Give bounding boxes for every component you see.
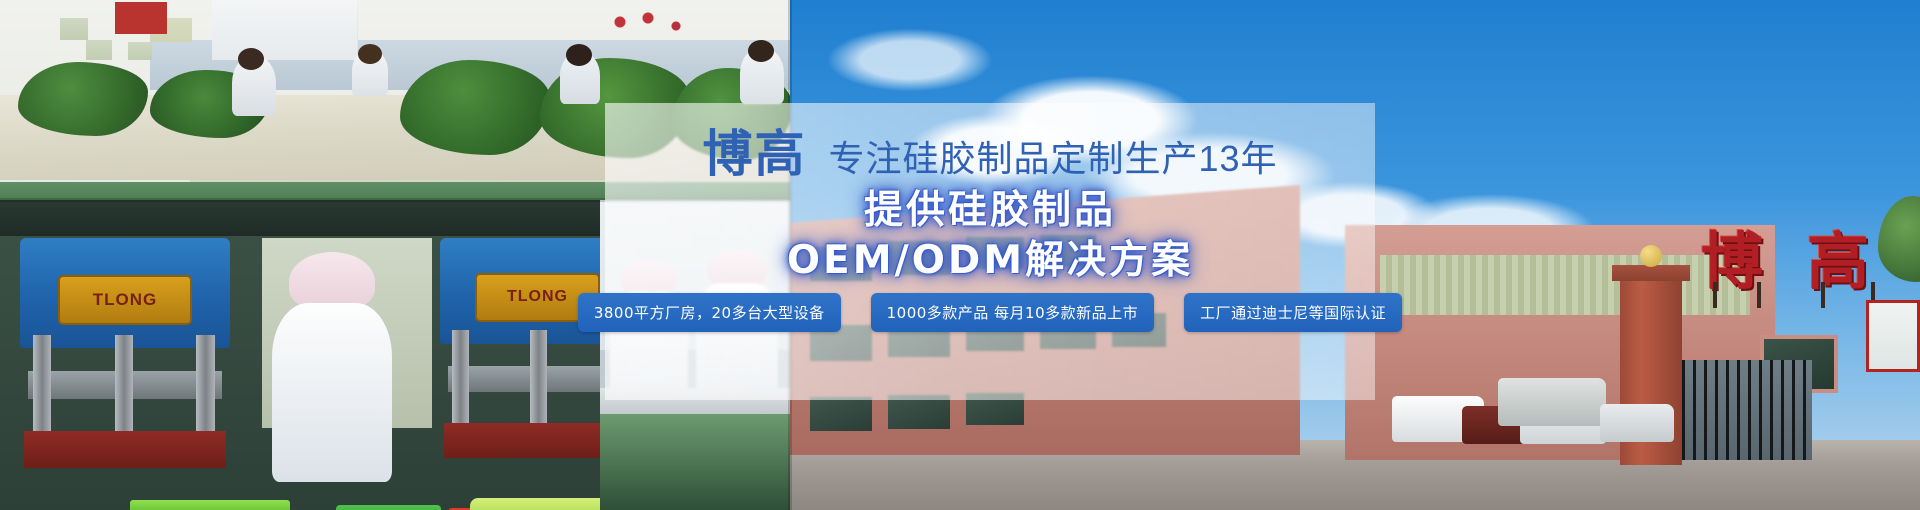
headline-row: 博高 专注硅胶制品定制生产13年 [702, 129, 1277, 179]
rooftop-sign-char-1: 博 [1701, 232, 1763, 294]
factory-gate [1682, 360, 1812, 460]
office-worker-head [566, 44, 592, 66]
factory-worker [272, 252, 392, 482]
machine-brand-plate: TLONG [58, 275, 192, 326]
subheadline-line-2: OEM/ODM解决方案 [787, 237, 1193, 285]
car [1600, 404, 1674, 442]
brand-name: 博高 [702, 129, 806, 179]
office-worker-head [238, 48, 264, 70]
feature-badge-certification[interactable]: 工厂通过迪士尼等国际认证 [1184, 293, 1402, 332]
office-plant [400, 60, 550, 155]
office-plant [18, 62, 148, 136]
rooftop-sign-char-2: 高 [1807, 232, 1869, 294]
feature-badge-list: 3800平方厂房，20多台大型设备 1000多款产品 每月10多款新品上市 工厂… [605, 293, 1375, 332]
hydraulic-press: TLONG [20, 238, 230, 468]
parts-tray [336, 505, 441, 510]
pillar-lamp-icon [1640, 245, 1662, 267]
silicone-parts [470, 498, 620, 510]
hero-content: 博高 专注硅胶制品定制生产13年 提供硅胶制品 OEM/ODM解决方案 3800… [605, 103, 1375, 400]
subheadline-line-1: 提供硅胶制品 [864, 187, 1116, 235]
box-truck [1498, 378, 1606, 426]
silicone-parts [130, 500, 290, 510]
feature-badge-factory-size[interactable]: 3800平方厂房，20多台大型设备 [578, 293, 841, 332]
notice-board [1866, 300, 1920, 372]
office-worker-head [748, 40, 774, 62]
tagline: 专注硅胶制品定制生产13年 [828, 141, 1277, 177]
office-worker-head [358, 44, 382, 64]
company-hero-banner: TLONG TLONG [0, 0, 1920, 510]
feature-badge-product-count[interactable]: 1000多款产品 每月10多款新品上市 [871, 293, 1155, 332]
